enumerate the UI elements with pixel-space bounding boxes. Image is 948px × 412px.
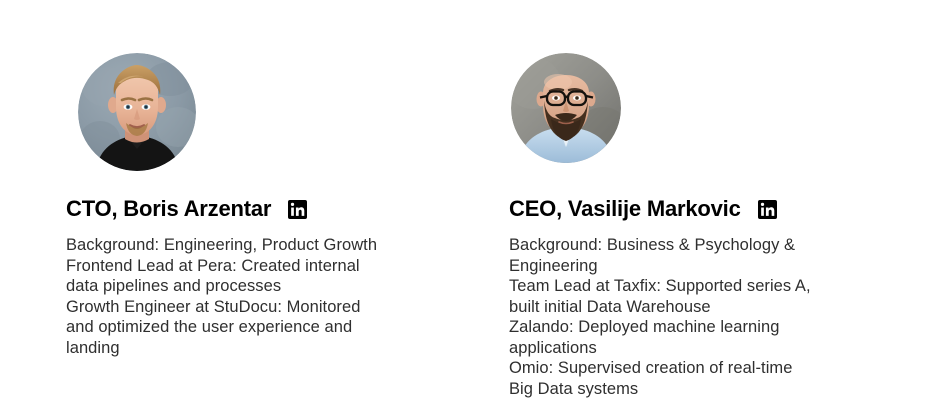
avatar-boris-arzentar xyxy=(78,53,196,171)
linkedin-icon[interactable] xyxy=(758,200,777,219)
bio-line: Background: Business & Psychology & xyxy=(509,235,861,256)
profile-bio-cto: Background: Engineering, Product Growth … xyxy=(66,235,418,358)
bio-line: Frontend Lead at Pera: Created internal xyxy=(66,256,418,277)
profile-name-ceo: CEO, Vasilije Markovic xyxy=(509,196,741,222)
bio-line: Growth Engineer at StuDocu: Monitored xyxy=(66,297,418,318)
bio-line: built initial Data Warehouse xyxy=(509,297,861,318)
profile-bio-ceo: Background: Business & Psychology & Engi… xyxy=(509,235,861,399)
bio-line: Big Data systems xyxy=(509,379,861,400)
bio-line: applications xyxy=(509,338,861,359)
profile-name-row-ceo: CEO, Vasilije Markovic xyxy=(509,196,777,222)
team-profiles-board: CTO, Boris Arzentar Background: Engineer… xyxy=(0,0,948,412)
bio-line: Engineering xyxy=(509,256,861,277)
bio-line: landing xyxy=(66,338,418,359)
bio-line: data pipelines and processes xyxy=(66,276,418,297)
bio-line: and optimized the user experience and xyxy=(66,317,418,338)
avatar-vasilije-markovic xyxy=(511,53,621,163)
bio-line: Omio: Supervised creation of real-time xyxy=(509,358,861,379)
bio-line: Background: Engineering, Product Growth xyxy=(66,235,418,256)
profile-name-row-cto: CTO, Boris Arzentar xyxy=(66,196,307,222)
linkedin-icon[interactable] xyxy=(288,200,307,219)
bio-line: Team Lead at Taxfix: Supported series A, xyxy=(509,276,861,297)
bio-line: Zalando: Deployed machine learning xyxy=(509,317,861,338)
profile-name-cto: CTO, Boris Arzentar xyxy=(66,196,271,222)
